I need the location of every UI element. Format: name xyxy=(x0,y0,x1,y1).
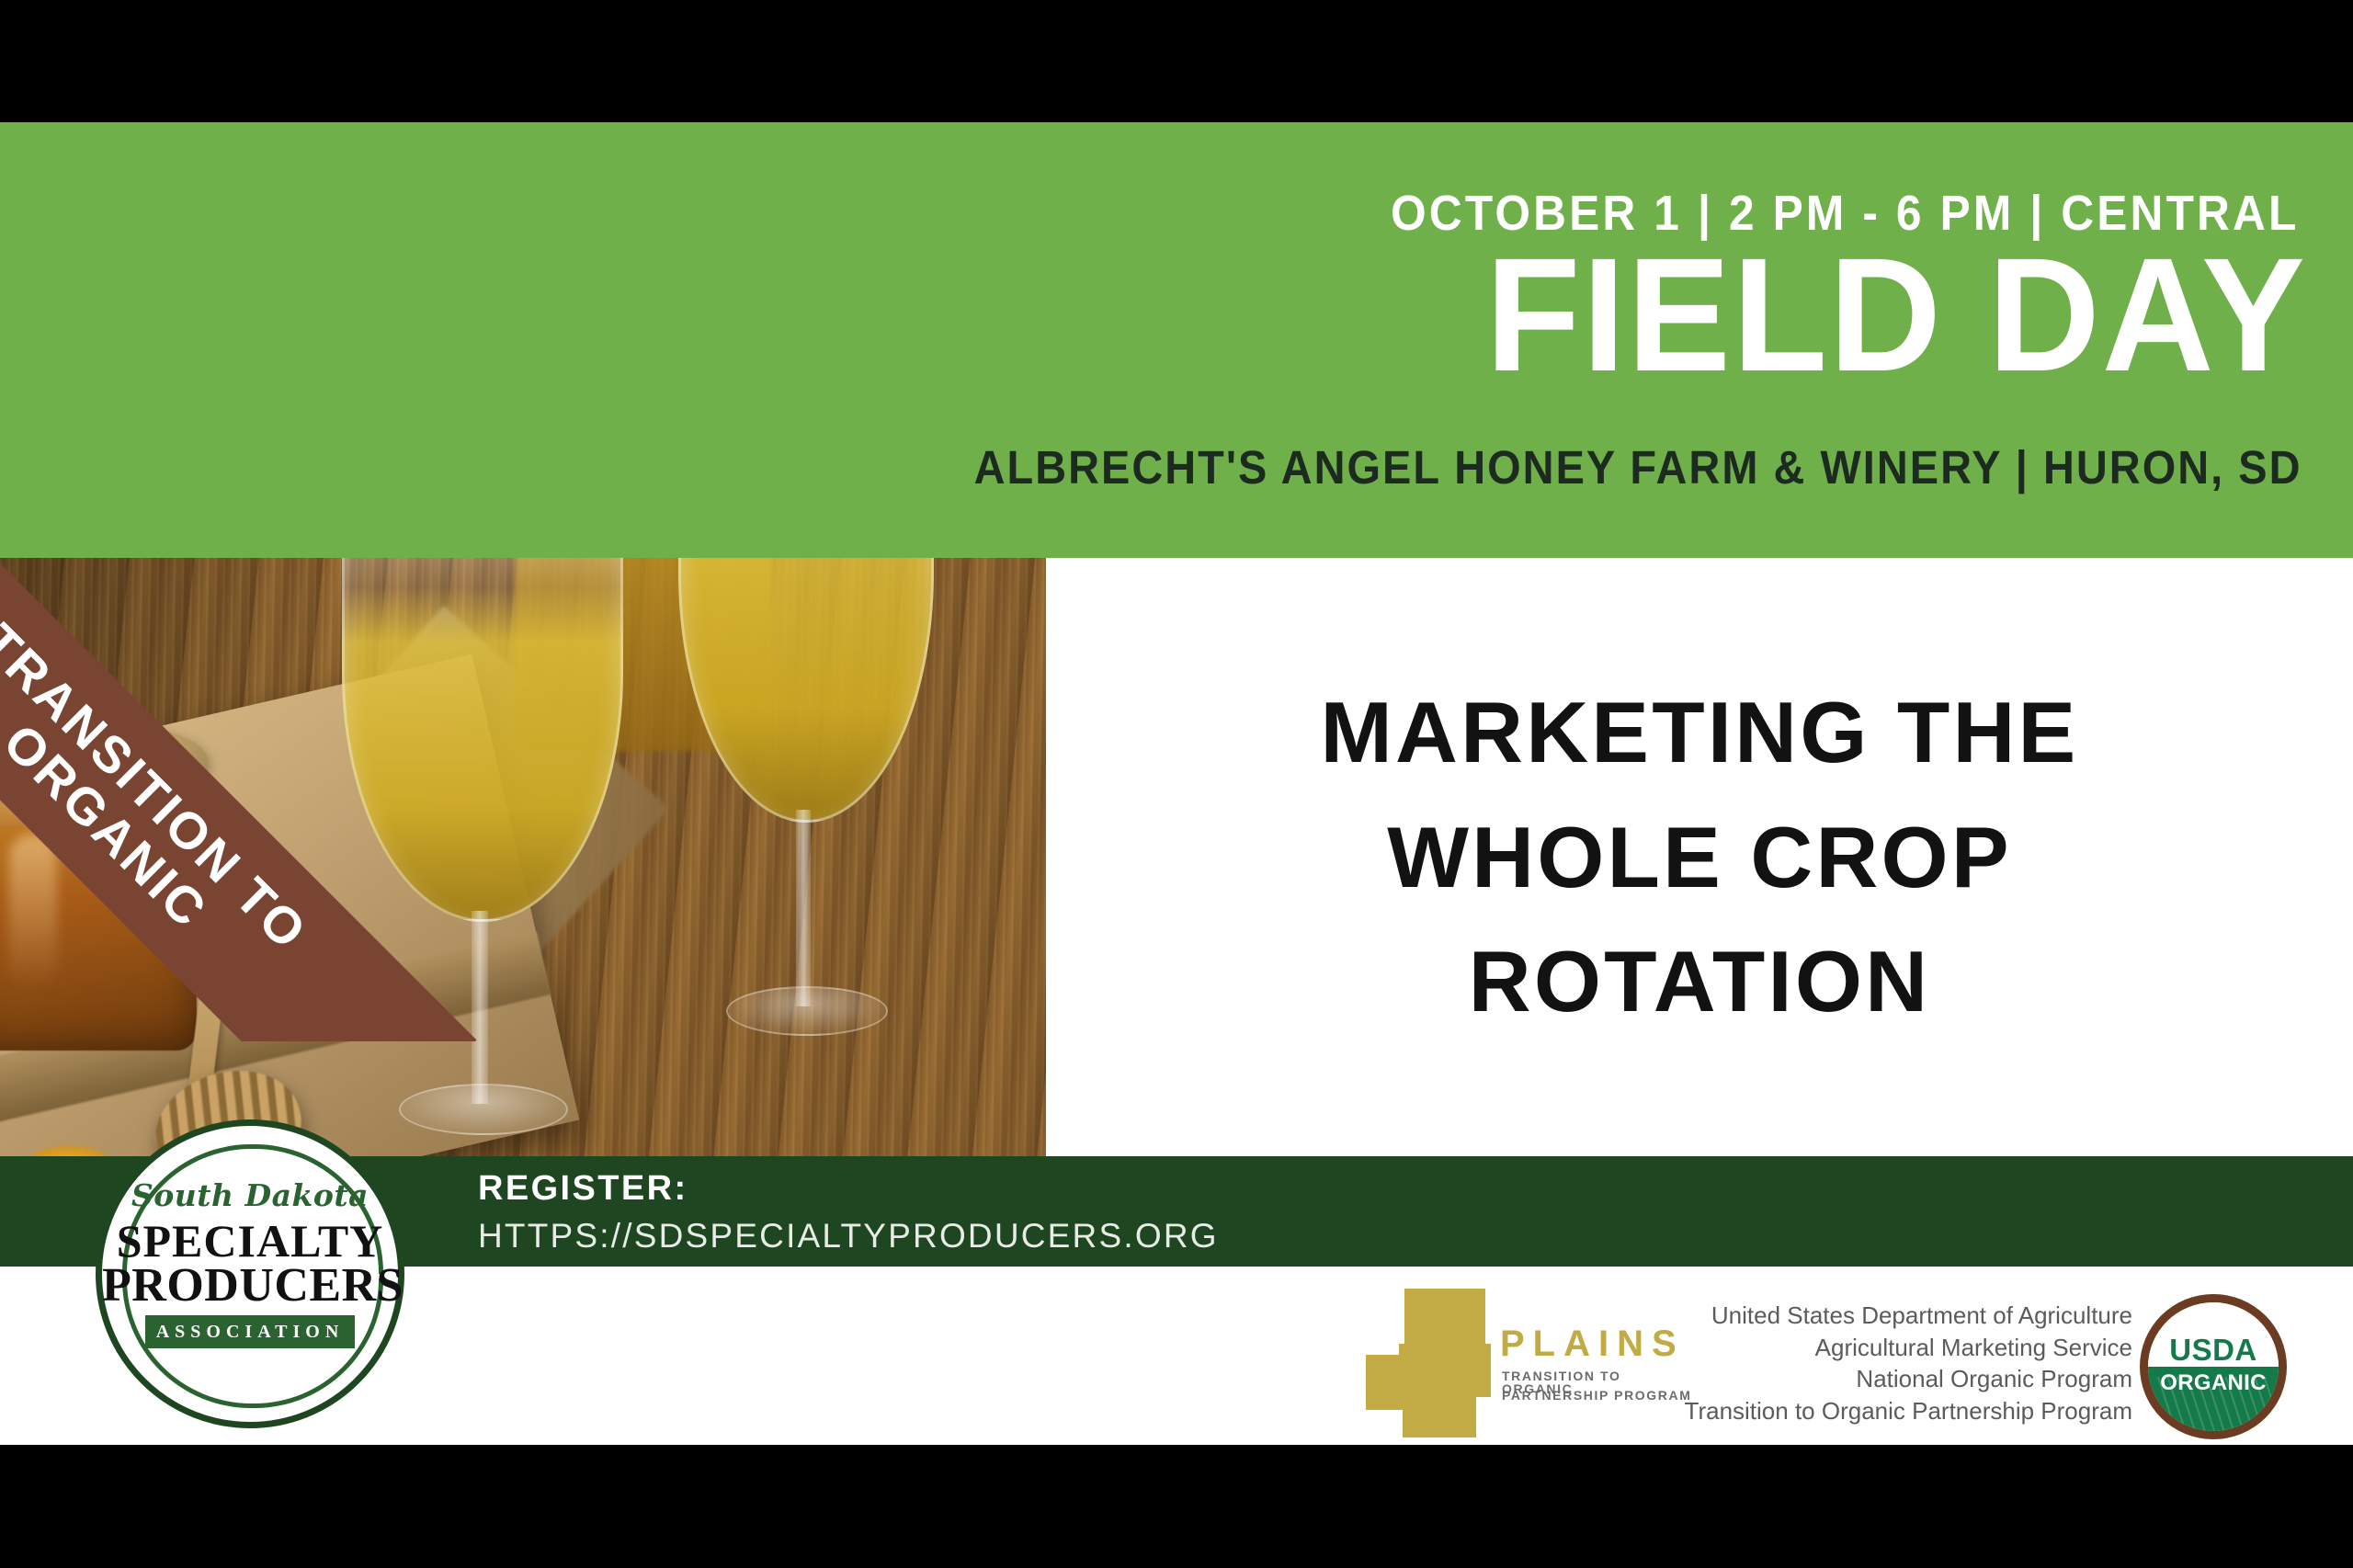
sd-specialty-producers-logo: South Dakota SPECIALTY PRODUCERS ASSOCIA… xyxy=(96,1119,404,1428)
wine-glass-foot xyxy=(726,986,888,1036)
seal-field-lines xyxy=(2155,1377,2271,1431)
wine-glass-stem xyxy=(796,810,811,1006)
plains-state-shape-icon xyxy=(1403,1395,1476,1437)
wine-glass-front xyxy=(342,558,627,1156)
wine-glass-bowl xyxy=(678,558,934,823)
plains-logo: PLAINS TRANSITION TO ORGANIC PARTNERSHIP… xyxy=(1366,1287,1697,1434)
seal-usda-text: USDA xyxy=(2169,1335,2257,1367)
usda-line-3: National Organic Program xyxy=(1654,1363,2132,1395)
wine-glass-foot xyxy=(399,1084,568,1135)
logo-script-text: South Dakota xyxy=(102,1177,398,1213)
plains-state-shape-icon xyxy=(1404,1289,1485,1346)
seal-top-half: USDA xyxy=(2148,1302,2279,1367)
usda-line-1: United States Department of Agriculture xyxy=(1654,1300,2132,1332)
honey-jar-highlight xyxy=(9,834,57,990)
usda-line-2: Agricultural Marketing Service xyxy=(1654,1332,2132,1364)
session-title-line-1: MARKETING THE xyxy=(1321,670,2079,794)
header-green-band: OCTOBER 1 | 2 PM - 6 PM | CENTRAL FIELD … xyxy=(0,122,2353,558)
honey-dipper-knob xyxy=(199,823,232,854)
main-title-panel: MARKETING THE WHOLE CROP ROTATION xyxy=(1046,558,2353,1156)
session-title: MARKETING THE WHOLE CROP ROTATION xyxy=(1321,670,2079,1043)
register-url-link[interactable]: HTTPS://SDSPECIALTYPRODUCERS.ORG xyxy=(478,1219,1219,1253)
poster-canvas: OCTOBER 1 | 2 PM - 6 PM | CENTRAL FIELD … xyxy=(0,122,2353,1445)
logo-association-bar: ASSOCIATION xyxy=(145,1315,355,1348)
wine-glass-back xyxy=(678,558,936,1100)
logo-word-producers: PRODUCERS xyxy=(102,1258,398,1312)
wine-glass-stem xyxy=(472,911,488,1104)
usda-agency-text: United States Department of Agriculture … xyxy=(1654,1300,2132,1426)
session-title-line-3: ROTATION xyxy=(1321,919,2079,1043)
usda-organic-seal-icon: USDA ORGANIC xyxy=(2140,1294,2287,1439)
event-venue-line: ALBRECHT'S ANGEL HONEY FARM & WINERY | H… xyxy=(973,444,2302,491)
usda-line-4: Transition to Organic Partnership Progra… xyxy=(1654,1395,2132,1427)
wine-glass-bowl xyxy=(342,558,623,922)
flyer-poster: OCTOBER 1 | 2 PM - 6 PM | CENTRAL FIELD … xyxy=(0,0,2353,1568)
hero-photo-wine-honey xyxy=(0,558,1046,1156)
session-title-line-2: WHOLE CROP xyxy=(1321,795,2079,919)
register-label: REGISTER: xyxy=(478,1171,688,1206)
page-title: FIELD DAY xyxy=(1485,225,2307,406)
